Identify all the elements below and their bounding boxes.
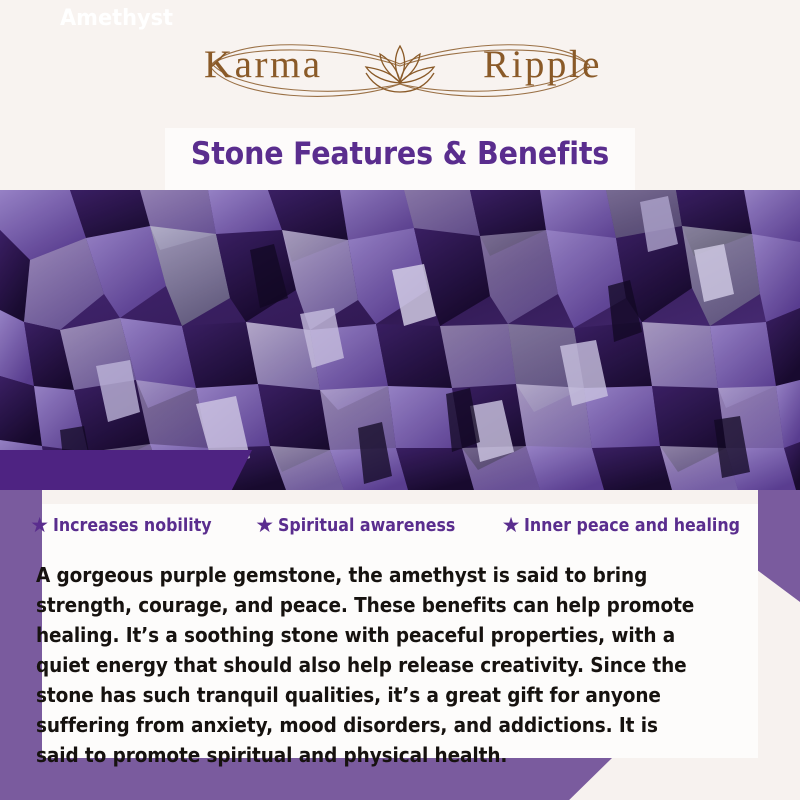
title-band: Stone Features & Benefits <box>0 128 800 190</box>
stone-name-banner <box>0 450 252 490</box>
feature-item-1: ★ Spiritual awareness <box>255 515 479 536</box>
description-panel-top-gap <box>42 490 758 504</box>
frame-border-right <box>758 490 800 602</box>
star-icon: ★ <box>502 515 521 536</box>
feature-item-0: ★ Increases nobility <box>30 515 233 536</box>
feature-label: Increases nobility <box>53 515 212 536</box>
star-icon: ★ <box>255 515 274 536</box>
brand-logo: Karma Ripple <box>190 24 610 110</box>
stone-description: A gorgeous purple gemstone, the amethyst… <box>36 560 706 770</box>
stone-name: Amethyst <box>60 6 173 31</box>
stone-info-card: Karma Ripple Stone Features & Benefits <box>0 0 800 800</box>
feature-item-2: ★ Inner peace and healing <box>502 515 770 536</box>
amethyst-photo <box>0 190 800 490</box>
brand-name-karma: Karma <box>204 42 323 87</box>
feature-label: Spiritual awareness <box>278 515 455 536</box>
page-title: Stone Features & Benefits <box>32 136 768 172</box>
brand-name-ripple: Ripple <box>483 42 602 87</box>
star-icon: ★ <box>30 515 49 536</box>
feature-list: ★ Increases nobility ★ Spiritual awarene… <box>42 515 758 536</box>
feature-label: Inner peace and healing <box>524 515 740 536</box>
